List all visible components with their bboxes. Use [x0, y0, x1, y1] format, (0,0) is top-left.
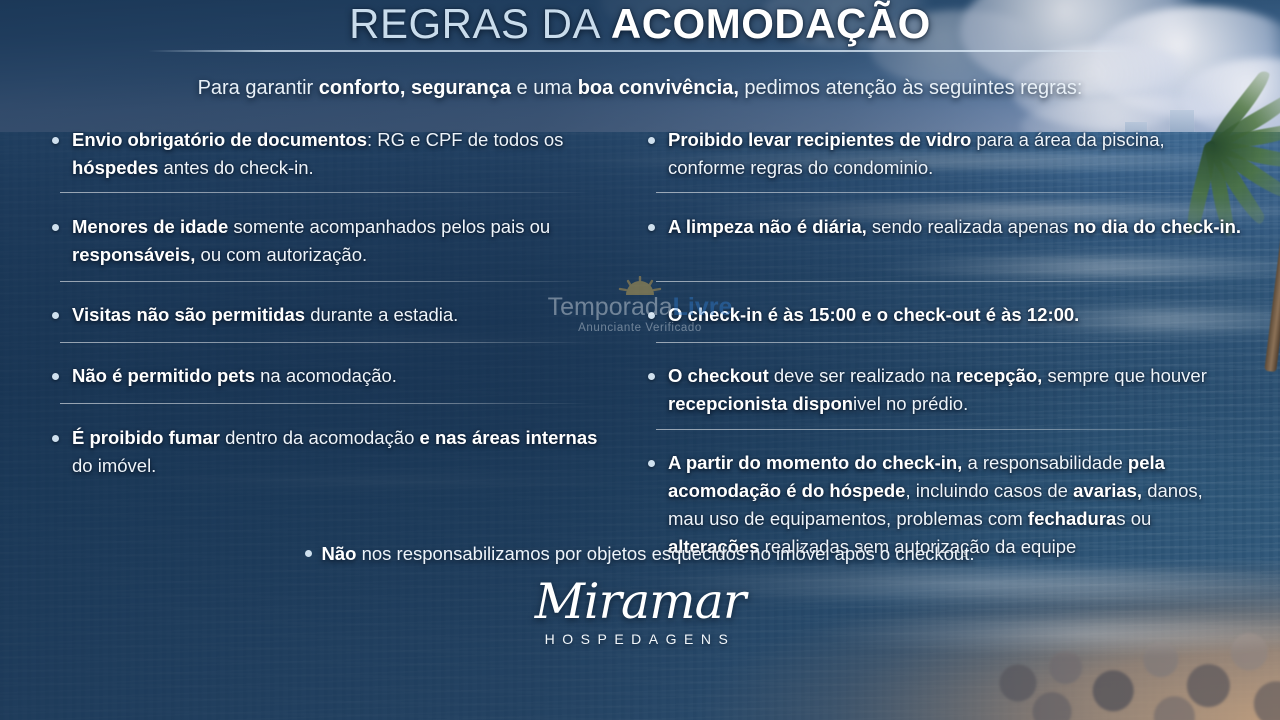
rule-text: sendo realizada apenas: [867, 216, 1074, 237]
rule-text: deve ser realizado na: [769, 365, 956, 386]
bullet-icon: [305, 550, 312, 557]
divider: [60, 342, 592, 343]
rule-bold: Envio obrigatório de documentos: [72, 129, 367, 150]
rule-bold: Proibido levar recipientes de vidro: [668, 129, 971, 150]
divider: [60, 403, 592, 404]
rule-bold: avarias,: [1073, 480, 1142, 501]
list-item: É proibido fumar dentro da acomodação e …: [46, 424, 606, 480]
rule-bold: A partir do momento do check-in,: [668, 452, 962, 473]
list-item: Visitas não são permitidas durante a est…: [46, 301, 606, 329]
list-item: Não é permitido pets na acomodação.: [46, 362, 606, 390]
title-part-da: DA: [542, 0, 599, 47]
rule-text: do imóvel.: [72, 455, 156, 476]
rule-bold: É proibido fumar: [72, 427, 220, 448]
divider: [656, 342, 1214, 343]
rule-text: na acomodação.: [255, 365, 397, 386]
divider: [60, 192, 592, 193]
subtitle-text-a: Para garantir: [198, 77, 319, 99]
rule-bold: Não é permitido pets: [72, 365, 255, 386]
divider: [60, 281, 592, 282]
list-item: O checkout deve ser realizado na recepçã…: [642, 362, 1242, 418]
rule-bold: O check-in é às 15:00 e o check-out é às…: [668, 304, 1079, 325]
subtitle-bold-2: boa convivência,: [578, 77, 739, 99]
rules-column-left: Envio obrigatório de documentos: RG e CP…: [46, 126, 606, 480]
rule-bold: responsáveis,: [72, 244, 195, 265]
rule-bold: O checkout: [668, 365, 769, 386]
rule-bold: recepcionista dispon: [668, 393, 853, 414]
rule-bold: e nas áreas internas: [420, 427, 598, 448]
list-item: A limpeza não é diária, sendo realizada …: [642, 213, 1242, 269]
rule-text: durante a estadia.: [305, 304, 458, 325]
rules-column-right: Proibido levar recipientes de vidro para…: [642, 126, 1242, 561]
page-title: REGRAS DA ACOMODAÇÃO: [0, 0, 1280, 46]
list-item: O check-in é às 15:00 e o check-out é às…: [642, 301, 1242, 329]
poster-header: REGRAS DA ACOMODAÇÃO: [0, 0, 1280, 46]
divider: [656, 192, 1214, 193]
rule-bold: hóspedes: [72, 157, 158, 178]
logo-name: Miramar: [0, 576, 1280, 628]
footnote-bold: Não: [321, 543, 356, 564]
list-item: Proibido levar recipientes de vidro para…: [642, 126, 1242, 182]
footnote-text: nos responsabilizamos por objetos esquec…: [356, 543, 974, 564]
rule-bold: no dia do check-in.: [1074, 216, 1242, 237]
rule-text: dentro da acomodação: [220, 427, 420, 448]
title-part-regras: REGRAS: [349, 0, 529, 47]
title-part-acomodacao: ACOMODAÇÃO: [611, 0, 931, 47]
rule-text: s ou: [1116, 508, 1151, 529]
rule-text: ivel no prédio.: [853, 393, 968, 414]
footnote-rule: Não nos responsabilizamos por objetos es…: [0, 540, 1280, 568]
subtitle-text-c: e uma: [511, 77, 578, 99]
rule-bold: recepção,: [956, 365, 1042, 386]
rule-bold: Menores de idade: [72, 216, 228, 237]
list-item: Menores de idade somente acompanhados pe…: [46, 213, 606, 269]
subtitle: Para garantir conforto, segurança e uma …: [0, 74, 1280, 102]
rule-bold: fechadura: [1028, 508, 1116, 529]
divider: [656, 429, 1214, 430]
subtitle-text-d: pedimos atenção às seguintes regras:: [739, 77, 1083, 99]
rule-text: sempre que houver: [1042, 365, 1207, 386]
logo-tagline: HOSPEDAGENS: [0, 631, 1280, 647]
rule-text: a responsabilidade: [962, 452, 1128, 473]
list-item: Envio obrigatório de documentos: RG e CP…: [46, 126, 606, 182]
divider: [656, 281, 1214, 282]
rule-text: antes do check-in.: [158, 157, 313, 178]
header-divider: [148, 50, 1132, 52]
rule-text: , incluindo casos de: [905, 480, 1073, 501]
rule-text: ou com autorização.: [195, 244, 367, 265]
accommodation-rules-poster: REGRAS DA ACOMODAÇÃO Para garantir confo…: [0, 0, 1280, 720]
rule-bold: Visitas não são permitidas: [72, 304, 305, 325]
subtitle-bold-1: conforto, segurança: [319, 77, 511, 99]
brand-logo: Miramar HOSPEDAGENS: [0, 576, 1280, 647]
rule-bold: A limpeza não é diária,: [668, 216, 867, 237]
rule-text: somente acompanhados pelos pais ou: [228, 216, 550, 237]
rule-text: : RG e CPF de todos os: [367, 129, 563, 150]
